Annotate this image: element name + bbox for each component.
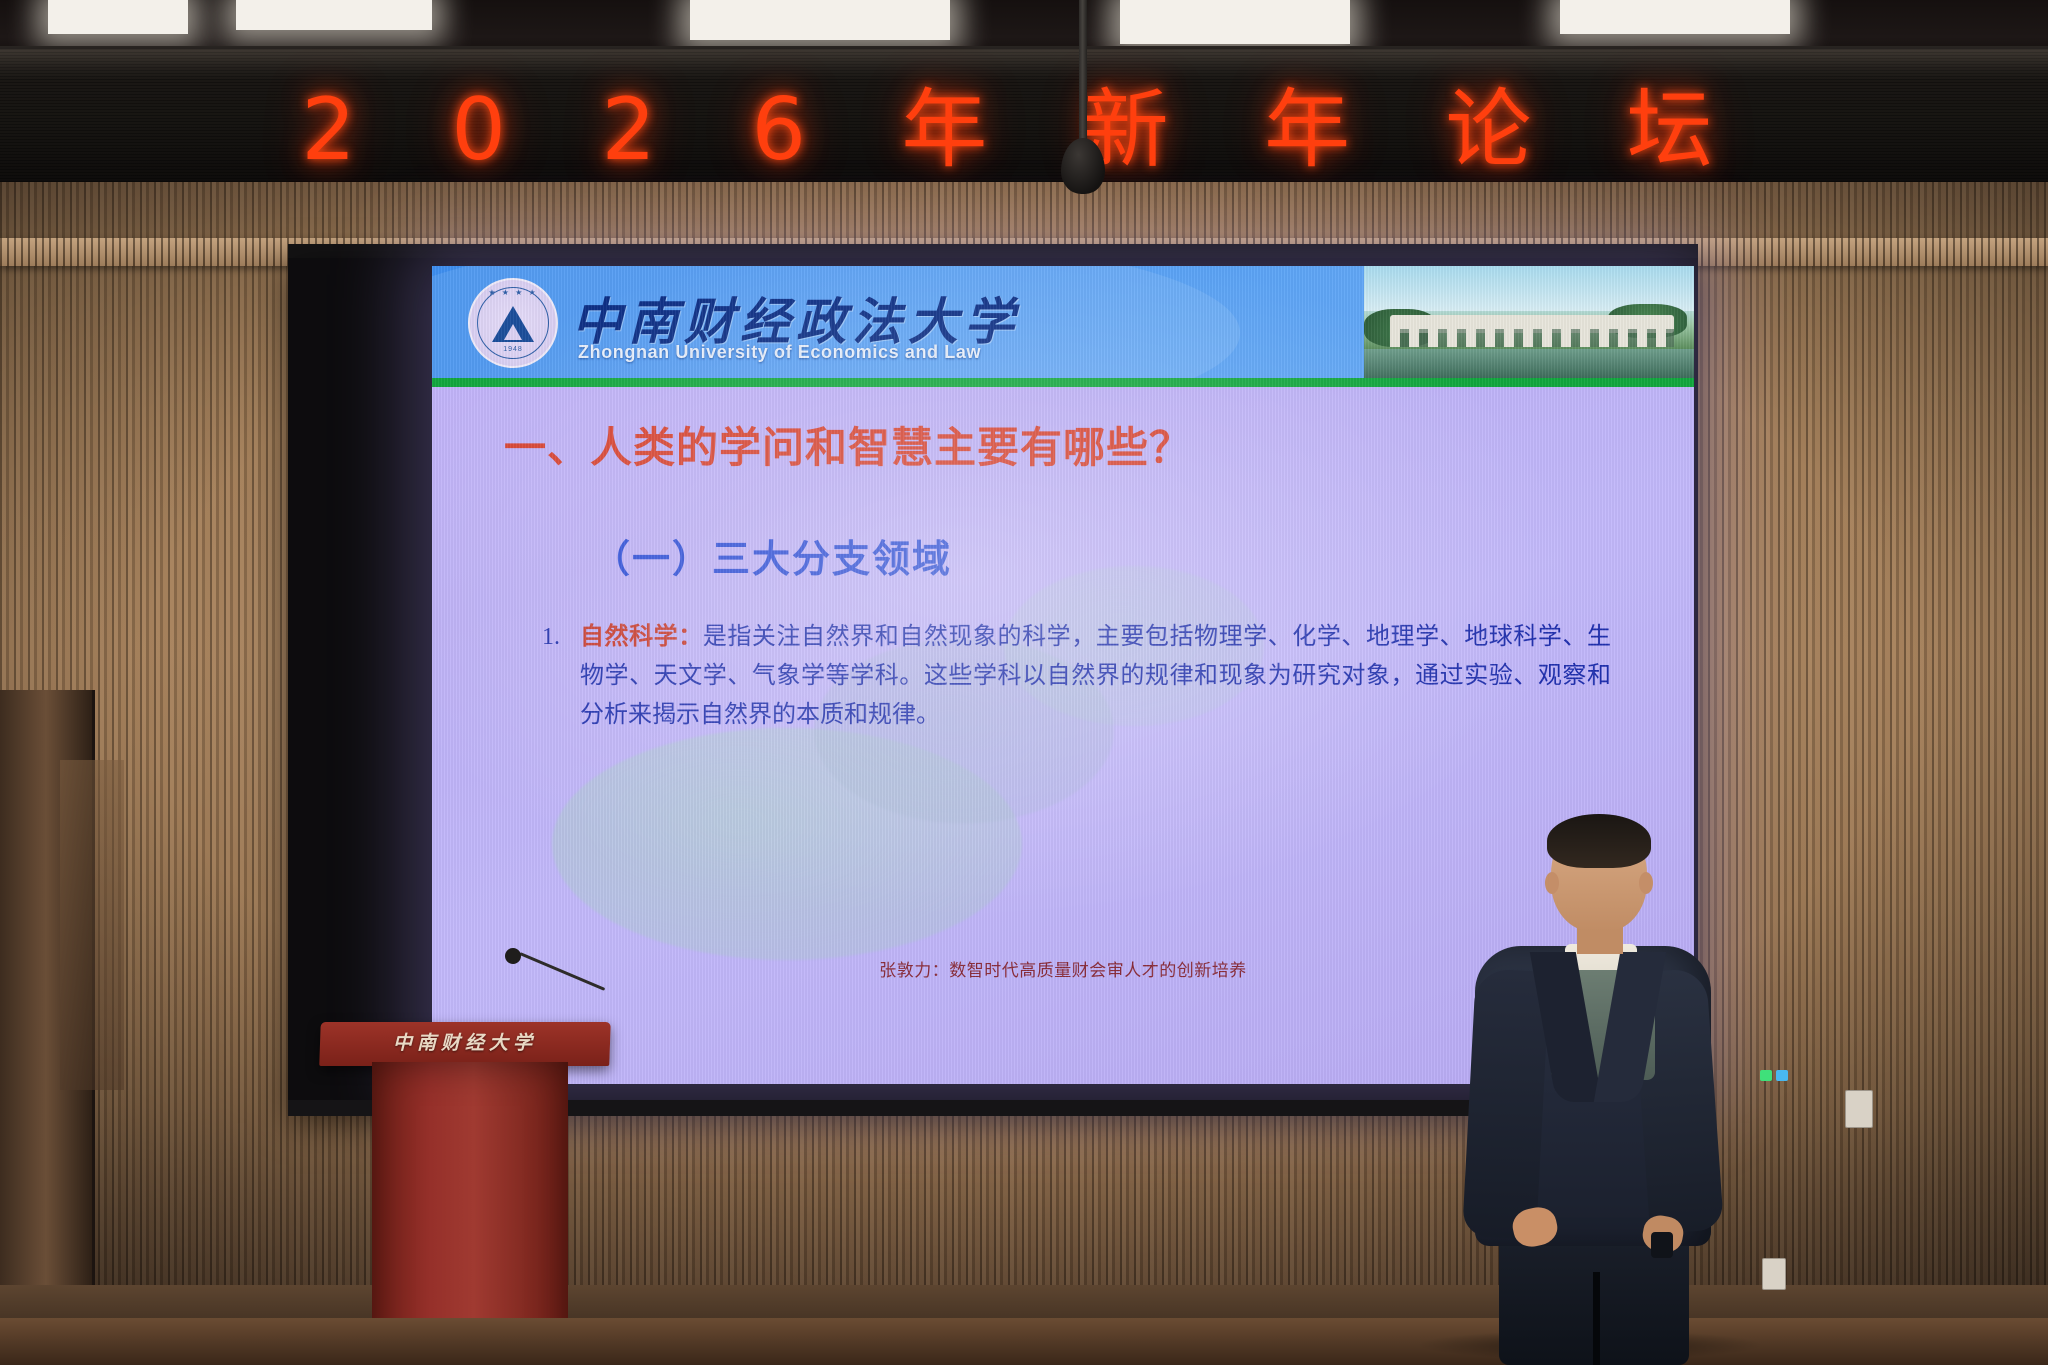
university-logo-icon: ★ ★ ★ ★ 1948 [468, 278, 558, 368]
presenter-leg-gap [1593, 1272, 1600, 1365]
lecture-hall-scene: 2 0 2 6 年 新 年 论 坛 ★ ★ ★ ★ 1948 中南财经政法大学 … [0, 0, 2048, 1365]
ceiling-light-panel [690, 0, 950, 40]
status-led-blue [1776, 1070, 1788, 1081]
slide-subtitle: （一）三大分支领域 [592, 528, 952, 583]
campus-bridge-photo [1364, 266, 1694, 378]
university-name-en: Zhongnan University of Economics and Law [578, 342, 981, 363]
photo-water [1364, 349, 1694, 378]
ceiling-drop-rod [1079, 0, 1087, 150]
list-item-body: 是指关注自然界和自然现象的科学，主要包括物理学、化学、地理学、地球科学、生物学、… [580, 624, 1611, 728]
logo-triangle-inner [504, 324, 522, 340]
status-led-green [1760, 1070, 1772, 1081]
list-item-number: 1. [516, 618, 560, 657]
wall-socket[interactable] [1762, 1258, 1786, 1290]
ceiling-light-panel [48, 0, 188, 34]
wall-socket[interactable] [1845, 1090, 1873, 1128]
list-item-text: 自然科学：是指关注自然界和自然现象的科学，主要包括物理学、化学、地理学、地球科学… [580, 618, 1611, 735]
logo-year: 1948 [470, 346, 556, 353]
presenter-ear-left [1545, 872, 1559, 894]
photo-bridge-arches [1390, 329, 1674, 347]
led-banner-glare [0, 46, 2048, 80]
presenter [1455, 820, 1725, 1365]
logo-arc-text: ★ ★ ★ ★ [470, 288, 556, 297]
ceiling-light-panel [1560, 0, 1790, 34]
presenter-hair [1547, 814, 1651, 868]
slide-header-band: ★ ★ ★ ★ 1948 中南财经政法大学 Zhongnan Universit… [432, 266, 1694, 378]
list-item-label: 自然科学： [580, 624, 703, 650]
ceiling-light-panel [1120, 0, 1350, 44]
presenter-arm-left [1462, 968, 1550, 1240]
slide-title: 一、人类的学问和智慧主要有哪些？ [504, 414, 1192, 475]
header-accent-rule [432, 378, 1694, 387]
wall-panel [60, 760, 124, 1090]
microphone-icon [505, 948, 521, 964]
ceiling-light-panel [236, 0, 432, 30]
presenter-ear-right [1639, 872, 1653, 894]
presenter-clicker[interactable] [1651, 1232, 1673, 1258]
podium-label: 中南财经大学 [340, 1028, 590, 1055]
slide-list-item: 1. 自然科学：是指关注自然界和自然现象的科学，主要包括物理学、化学、地理学、地… [516, 618, 1611, 735]
